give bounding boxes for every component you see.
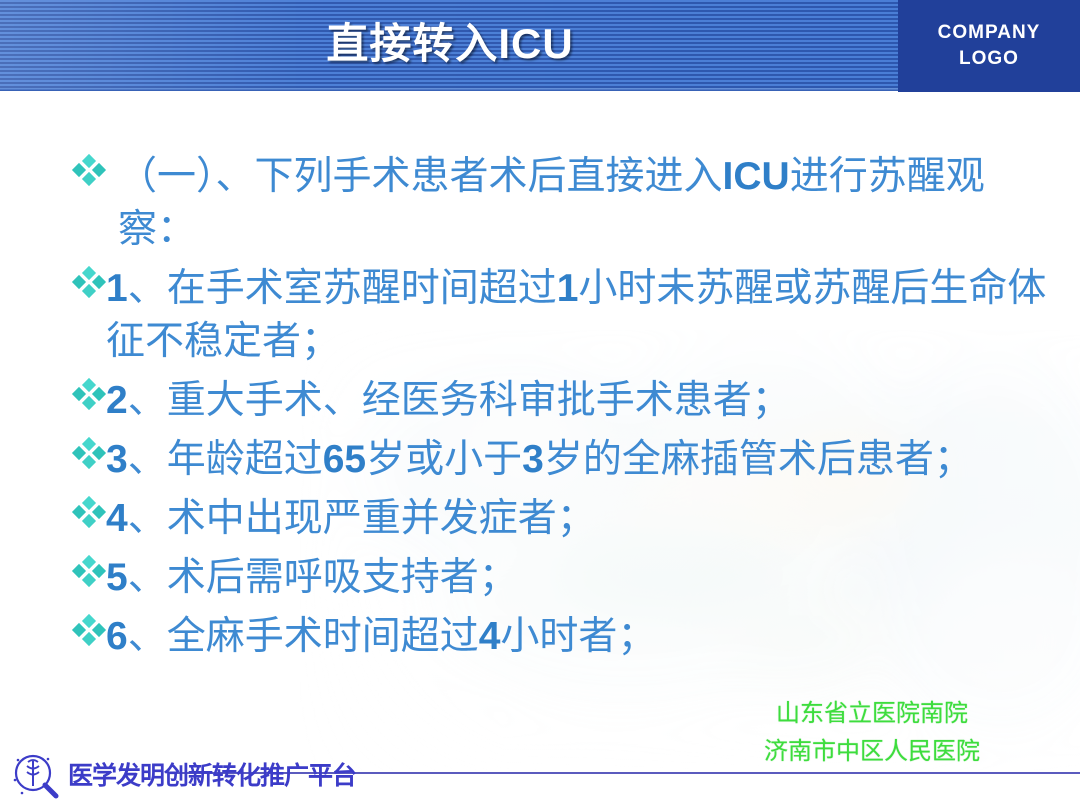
bullet-text-3: 3、年龄超过65岁或小于3岁的全麻插管术后患者； [106,433,1050,486]
slide-footer: 医学发明创新转化推广平台 [0,740,1080,810]
bullet-text-6: 6、全麻手术时间超过4小时者； [106,610,1050,663]
bullet-text-4: 4、术中出现严重并发症者； [106,492,1050,545]
company-logo-line-1: COMPANY [938,20,1041,46]
hospital-name-line-1: 山东省立医院南院 [722,695,1022,733]
bullet-item-intro: （一）、下列手术患者术后直接进入ICU进行苏醒观察： [0,150,1080,256]
bullet-item-6: 6、全麻手术时间超过4小时者； [0,610,1080,663]
diamond-bullet-icon [74,557,104,587]
bullet-item-5: 5、术后需呼吸支持者； [0,551,1080,604]
bullet-text-intro: （一）、下列手术患者术后直接进入ICU进行苏醒观察： [118,150,1050,256]
diamond-bullet-icon [74,156,104,186]
bullet-item-3: 3、年龄超过65岁或小于3岁的全麻插管术后患者； [0,433,1080,486]
diamond-bullet-icon [74,268,104,298]
diamond-bullet-icon [74,498,104,528]
caduceus-magnifier-icon [8,748,64,804]
bullet-text-5: 5、术后需呼吸支持者； [106,551,1050,604]
bullet-item-2: 2、重大手术、经医务科审批手术患者； [0,374,1080,427]
bullet-item-1: 1、在手术室苏醒时间超过1小时未苏醒或苏醒后生命体征不稳定者； [0,262,1080,368]
slide-header: 直接转入ICU COMPANY LOGO [0,0,1080,92]
diamond-bullet-icon [74,380,104,410]
platform-name: 医学发明创新转化推广平台 [68,756,356,792]
company-logo-line-2: LOGO [959,46,1019,72]
slide-title: 直接转入ICU [0,10,900,78]
bullet-text-2: 2、重大手术、经医务科审批手术患者； [106,374,1050,427]
diamond-bullet-icon [74,616,104,646]
slide: 直接转入ICU COMPANY LOGO （一）、下列手术患者术后直接进入ICU… [0,0,1080,810]
slide-body: （一）、下列手术患者术后直接进入ICU进行苏醒观察： 1、在手术室苏醒时间超过1… [0,150,1080,669]
bullet-text-1: 1、在手术室苏醒时间超过1小时未苏醒或苏醒后生命体征不稳定者； [106,262,1050,368]
company-logo-placeholder: COMPANY LOGO [898,0,1080,92]
header-underline [0,88,900,91]
bullet-item-4: 4、术中出现严重并发症者； [0,492,1080,545]
diamond-bullet-icon [74,439,104,469]
